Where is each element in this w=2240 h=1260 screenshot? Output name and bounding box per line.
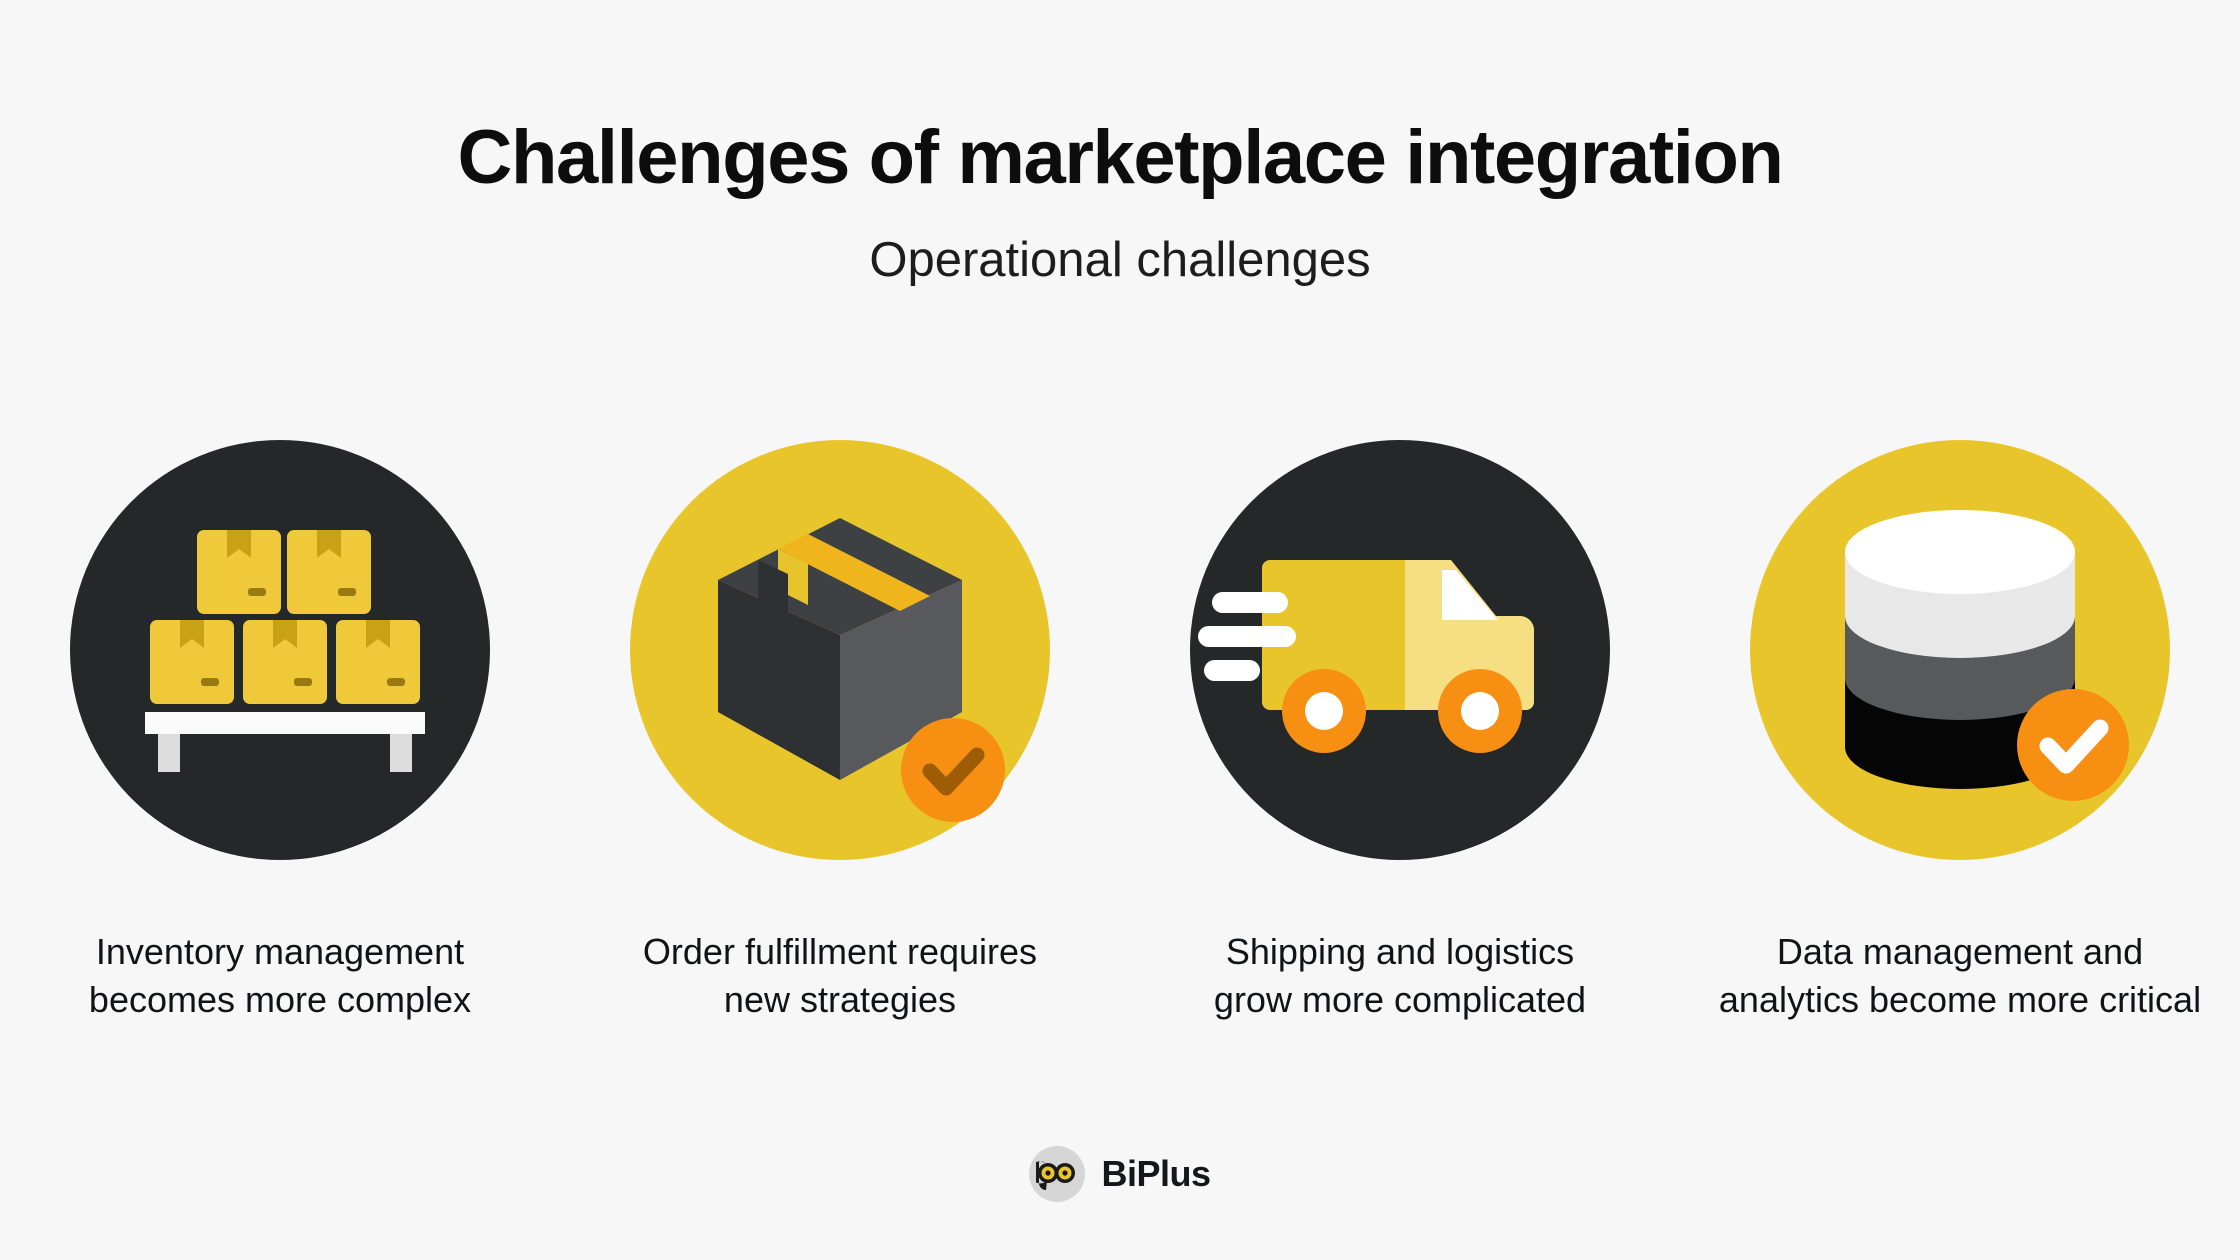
package-box-icon	[630, 440, 1050, 860]
footer-brand: BiPlus	[0, 1146, 2240, 1202]
challenge-card-shipping: Shipping and logistics grow more complic…	[1120, 440, 1680, 1023]
slide-canvas: Challenges of marketplace integration Op…	[0, 0, 2240, 1260]
icon-circle-order-fulfillment	[630, 440, 1050, 860]
icon-circle-shipping	[1190, 440, 1610, 860]
card-caption: Data management and analytics become mor…	[1719, 928, 2201, 1023]
challenge-card-inventory: Inventory management becomes more comple…	[0, 440, 560, 1023]
owl-eyes-glyph	[1036, 1157, 1078, 1191]
icon-circle-data-management	[1750, 440, 2170, 860]
challenge-card-data-management: Data management and analytics become mor…	[1680, 440, 2240, 1023]
icon-circle-inventory	[70, 440, 490, 860]
delivery-truck-icon	[1190, 440, 1610, 860]
challenge-cards-row: Inventory management becomes more comple…	[0, 440, 2240, 1023]
slide-header: Challenges of marketplace integration Op…	[0, 118, 2240, 288]
warehouse-boxes-icon	[70, 440, 490, 860]
database-cylinder-icon	[1750, 440, 2170, 860]
brand-name: BiPlus	[1101, 1156, 1210, 1192]
card-caption: Order fulfillment requires new strategie…	[643, 928, 1037, 1023]
page-title: Challenges of marketplace integration	[0, 118, 2240, 198]
page-subtitle: Operational challenges	[0, 234, 2240, 288]
card-caption: Inventory management becomes more comple…	[89, 928, 471, 1023]
challenge-card-order-fulfillment: Order fulfillment requires new strategie…	[560, 440, 1120, 1023]
card-caption: Shipping and logistics grow more complic…	[1214, 928, 1586, 1023]
biplus-owl-logo-icon	[1029, 1146, 1085, 1202]
